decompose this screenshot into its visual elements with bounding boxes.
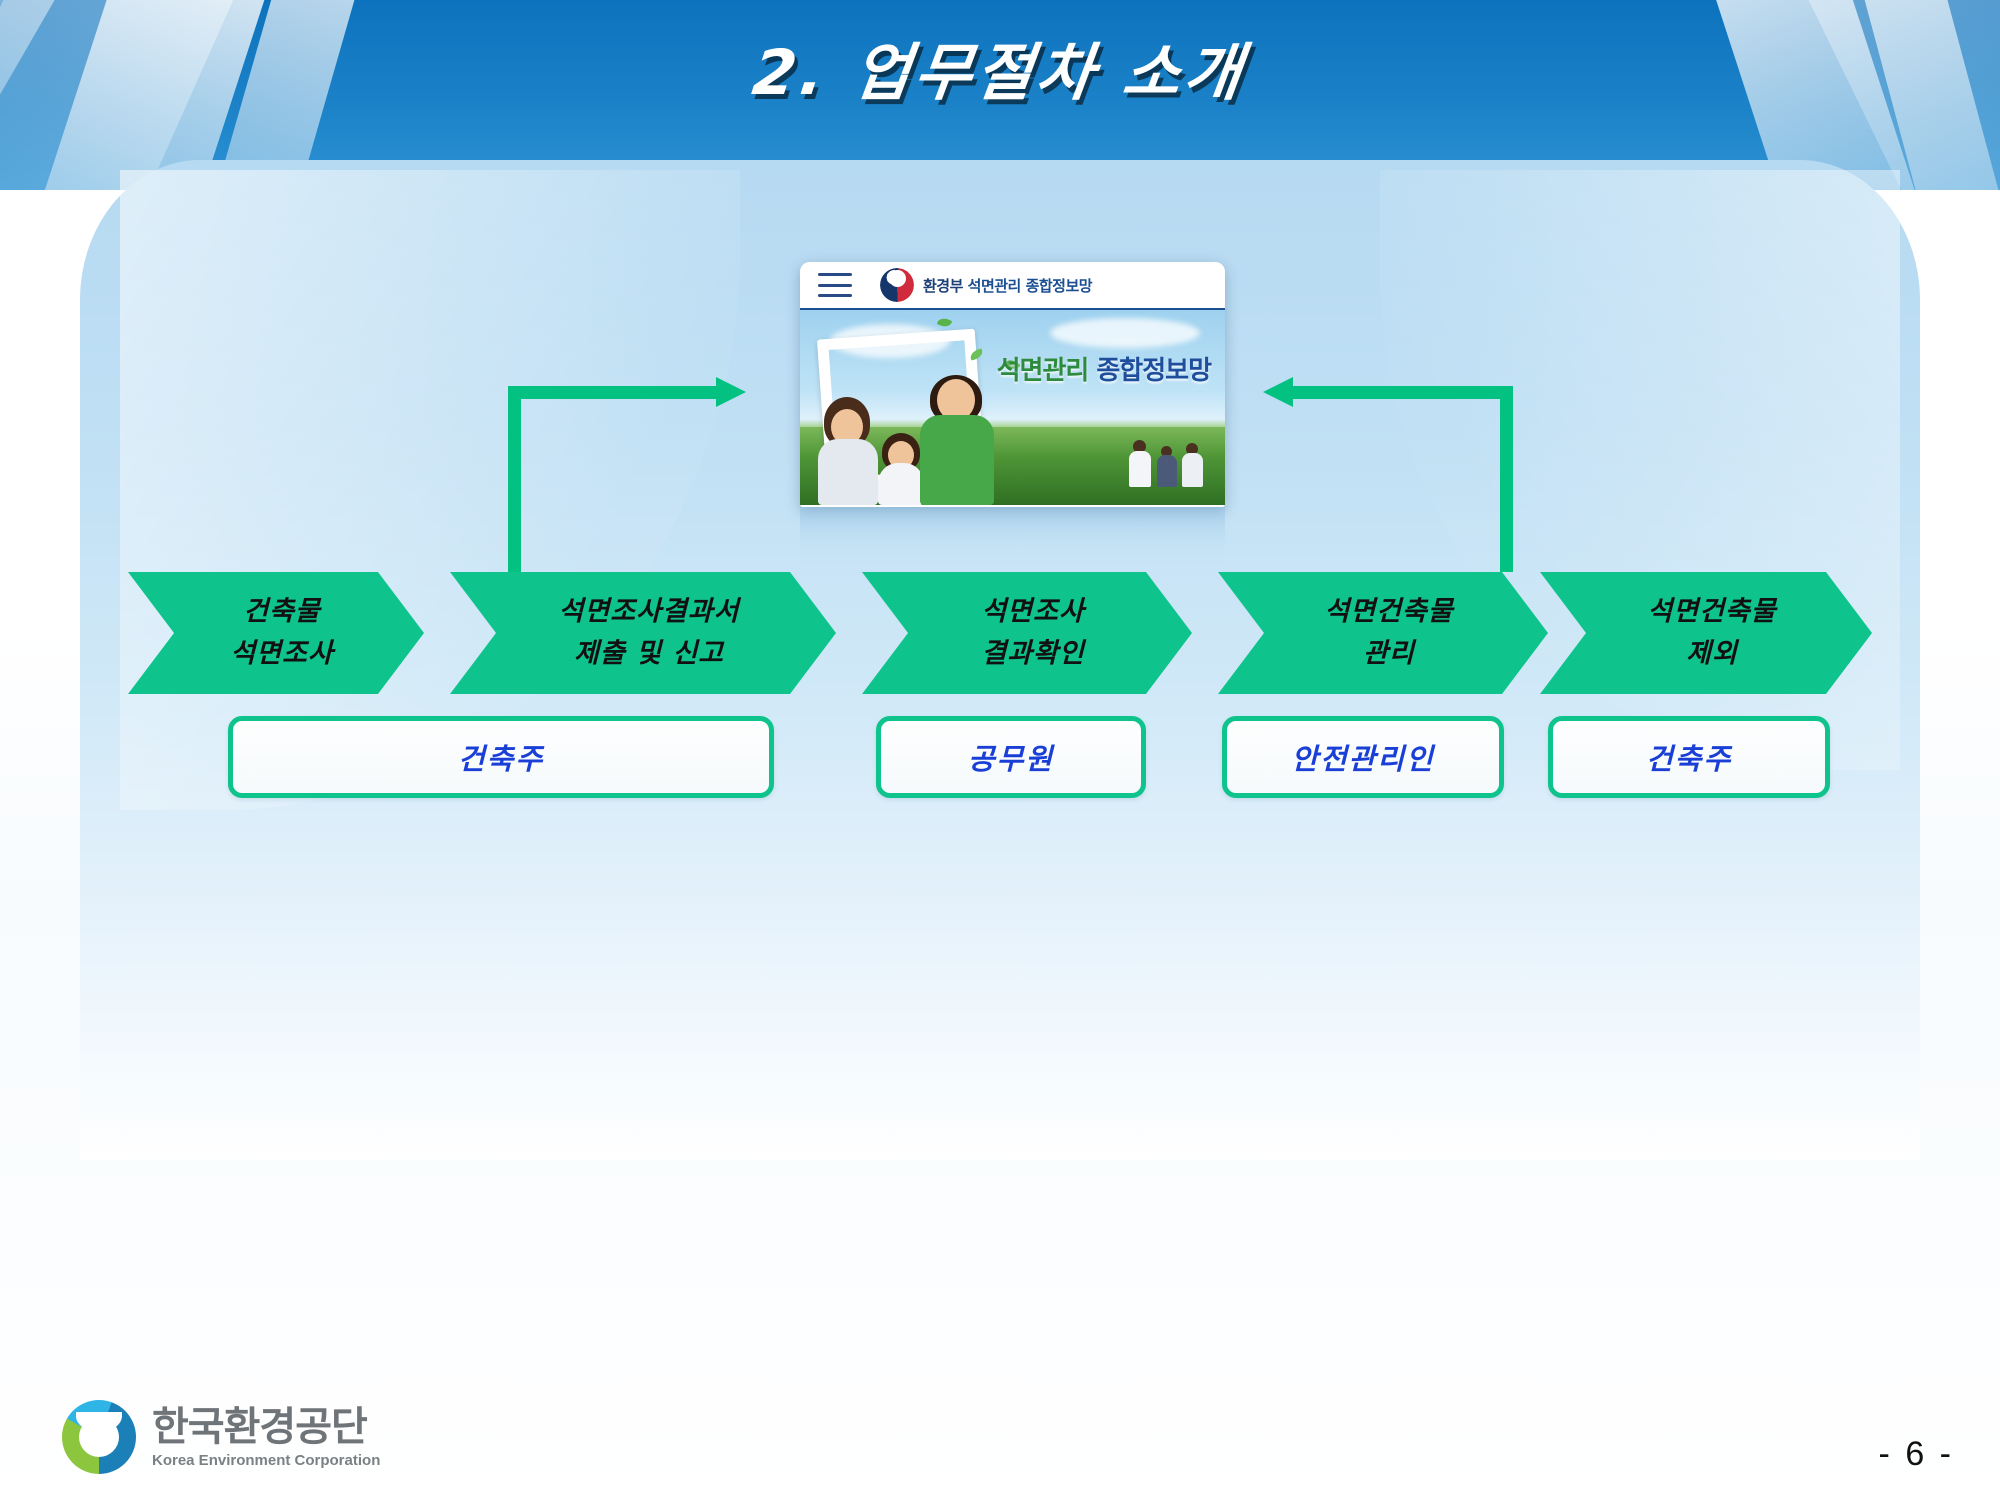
organization-name-ko: 한국환경공단 <box>152 1407 380 1447</box>
family-photo-illustration <box>816 365 1026 505</box>
role-label: 건축주 <box>1646 736 1732 778</box>
page-title: 2. 업무절차 소개 <box>0 22 2000 112</box>
portal-system-label: 석면관리 종합정보망 <box>968 277 1092 295</box>
portal-header-title: 환경부 석면관리 종합정보망 <box>923 275 1092 296</box>
leaf-icon <box>937 316 953 330</box>
role-box-owner-1[interactable]: 건축주 <box>228 716 774 798</box>
portal-header-bar: 환경부 석면관리 종합정보망 <box>800 262 1225 310</box>
process-step-5[interactable]: 석면건축물 제외 <box>1540 572 1872 694</box>
step-label-line2: 결과확인 <box>981 633 1084 675</box>
organization-name-en: Korea Environment Corporation <box>152 1453 380 1468</box>
step-label-line1: 석면건축물 <box>1324 591 1453 633</box>
banner-title-part-1: 석면관리 <box>997 356 1089 386</box>
step-label-line2: 제외 <box>1686 633 1738 675</box>
step-label-line2: 석면조사 <box>230 633 333 675</box>
portal-ministry-label: 환경부 <box>923 277 963 295</box>
footer-organization-logo: 한국환경공단 Korea Environment Corporation <box>62 1400 380 1474</box>
taegeuk-icon <box>880 268 914 302</box>
background-people-illustration <box>1125 429 1211 487</box>
step-label-line1: 석면조사 <box>981 591 1084 633</box>
portal-hero-banner: 석면관리 종합정보망 <box>800 310 1225 505</box>
role-box-owner-2[interactable]: 건축주 <box>1548 716 1830 798</box>
role-label: 공무원 <box>968 736 1054 778</box>
step-label-line1: 석면건축물 <box>1647 591 1776 633</box>
hamburger-icon[interactable] <box>818 273 852 297</box>
portal-banner-title: 석면관리 종합정보망 <box>997 350 1211 387</box>
asbestos-portal-screenshot[interactable]: 환경부 석면관리 종합정보망 <box>800 262 1225 507</box>
kec-ring-icon <box>62 1400 136 1474</box>
arrow-system-to-management <box>1263 386 1513 572</box>
slide-root: 2. 업무절차 소개 환경부 석면관리 종합정보망 <box>0 0 2000 1500</box>
page-number: - 6 - <box>1879 1435 1954 1474</box>
arrow-submit-to-system <box>508 386 756 572</box>
step-label-line2: 관리 <box>1363 633 1415 675</box>
banner-title-part-2: 종합정보망 <box>1096 356 1211 386</box>
role-label: 안전관리인 <box>1291 736 1434 778</box>
role-label: 건축주 <box>458 736 544 778</box>
role-box-safety-manager[interactable]: 안전관리인 <box>1222 716 1504 798</box>
process-flow-row: 건축물 석면조사 석면조사결과서 제출 및 신고 석면조사 결과확인 석면건축물… <box>128 572 1872 694</box>
cloud-decoration <box>1050 318 1200 348</box>
process-step-4[interactable]: 석면건축물 관리 <box>1218 572 1548 694</box>
process-step-3[interactable]: 석면조사 결과확인 <box>862 572 1192 694</box>
step-label-line1: 건축물 <box>243 591 321 633</box>
step-label-line1: 석면조사결과서 <box>559 591 740 633</box>
step-label-line2: 제출 및 신고 <box>574 633 724 675</box>
process-step-2[interactable]: 석면조사결과서 제출 및 신고 <box>450 572 836 694</box>
process-step-1[interactable]: 건축물 석면조사 <box>128 572 424 694</box>
role-box-public-official[interactable]: 공무원 <box>876 716 1146 798</box>
